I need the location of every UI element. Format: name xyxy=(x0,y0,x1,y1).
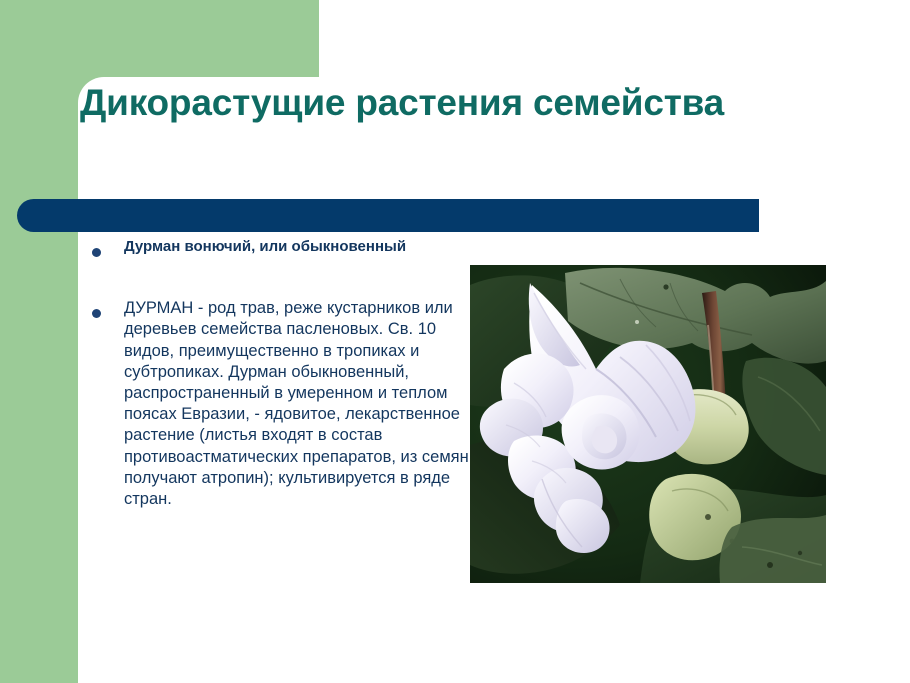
green-side-strip xyxy=(0,0,78,683)
list-item: Дурман вонючий, или обыкновенный xyxy=(88,238,470,256)
bullet-item-label: ДУРМАН - род трав, реже кустарников или … xyxy=(124,298,470,510)
datura-flower-illustration xyxy=(470,265,826,583)
bullet-item-label: Дурман вонючий, или обыкновенный xyxy=(124,238,470,256)
slide-title: Дикорастущие растения семейства xyxy=(80,78,780,127)
bullet-point-icon xyxy=(92,248,101,257)
navy-divider-bar xyxy=(17,199,759,232)
slide-body: Дурман вонючий, или обыкновенный ДУРМАН … xyxy=(88,238,470,510)
bullet-point-icon xyxy=(92,309,101,318)
presentation-slide: Дикорастущие растения семейства Дурман в… xyxy=(0,0,910,683)
list-item: ДУРМАН - род трав, реже кустарников или … xyxy=(88,298,470,510)
datura-flower-photo xyxy=(470,265,826,583)
